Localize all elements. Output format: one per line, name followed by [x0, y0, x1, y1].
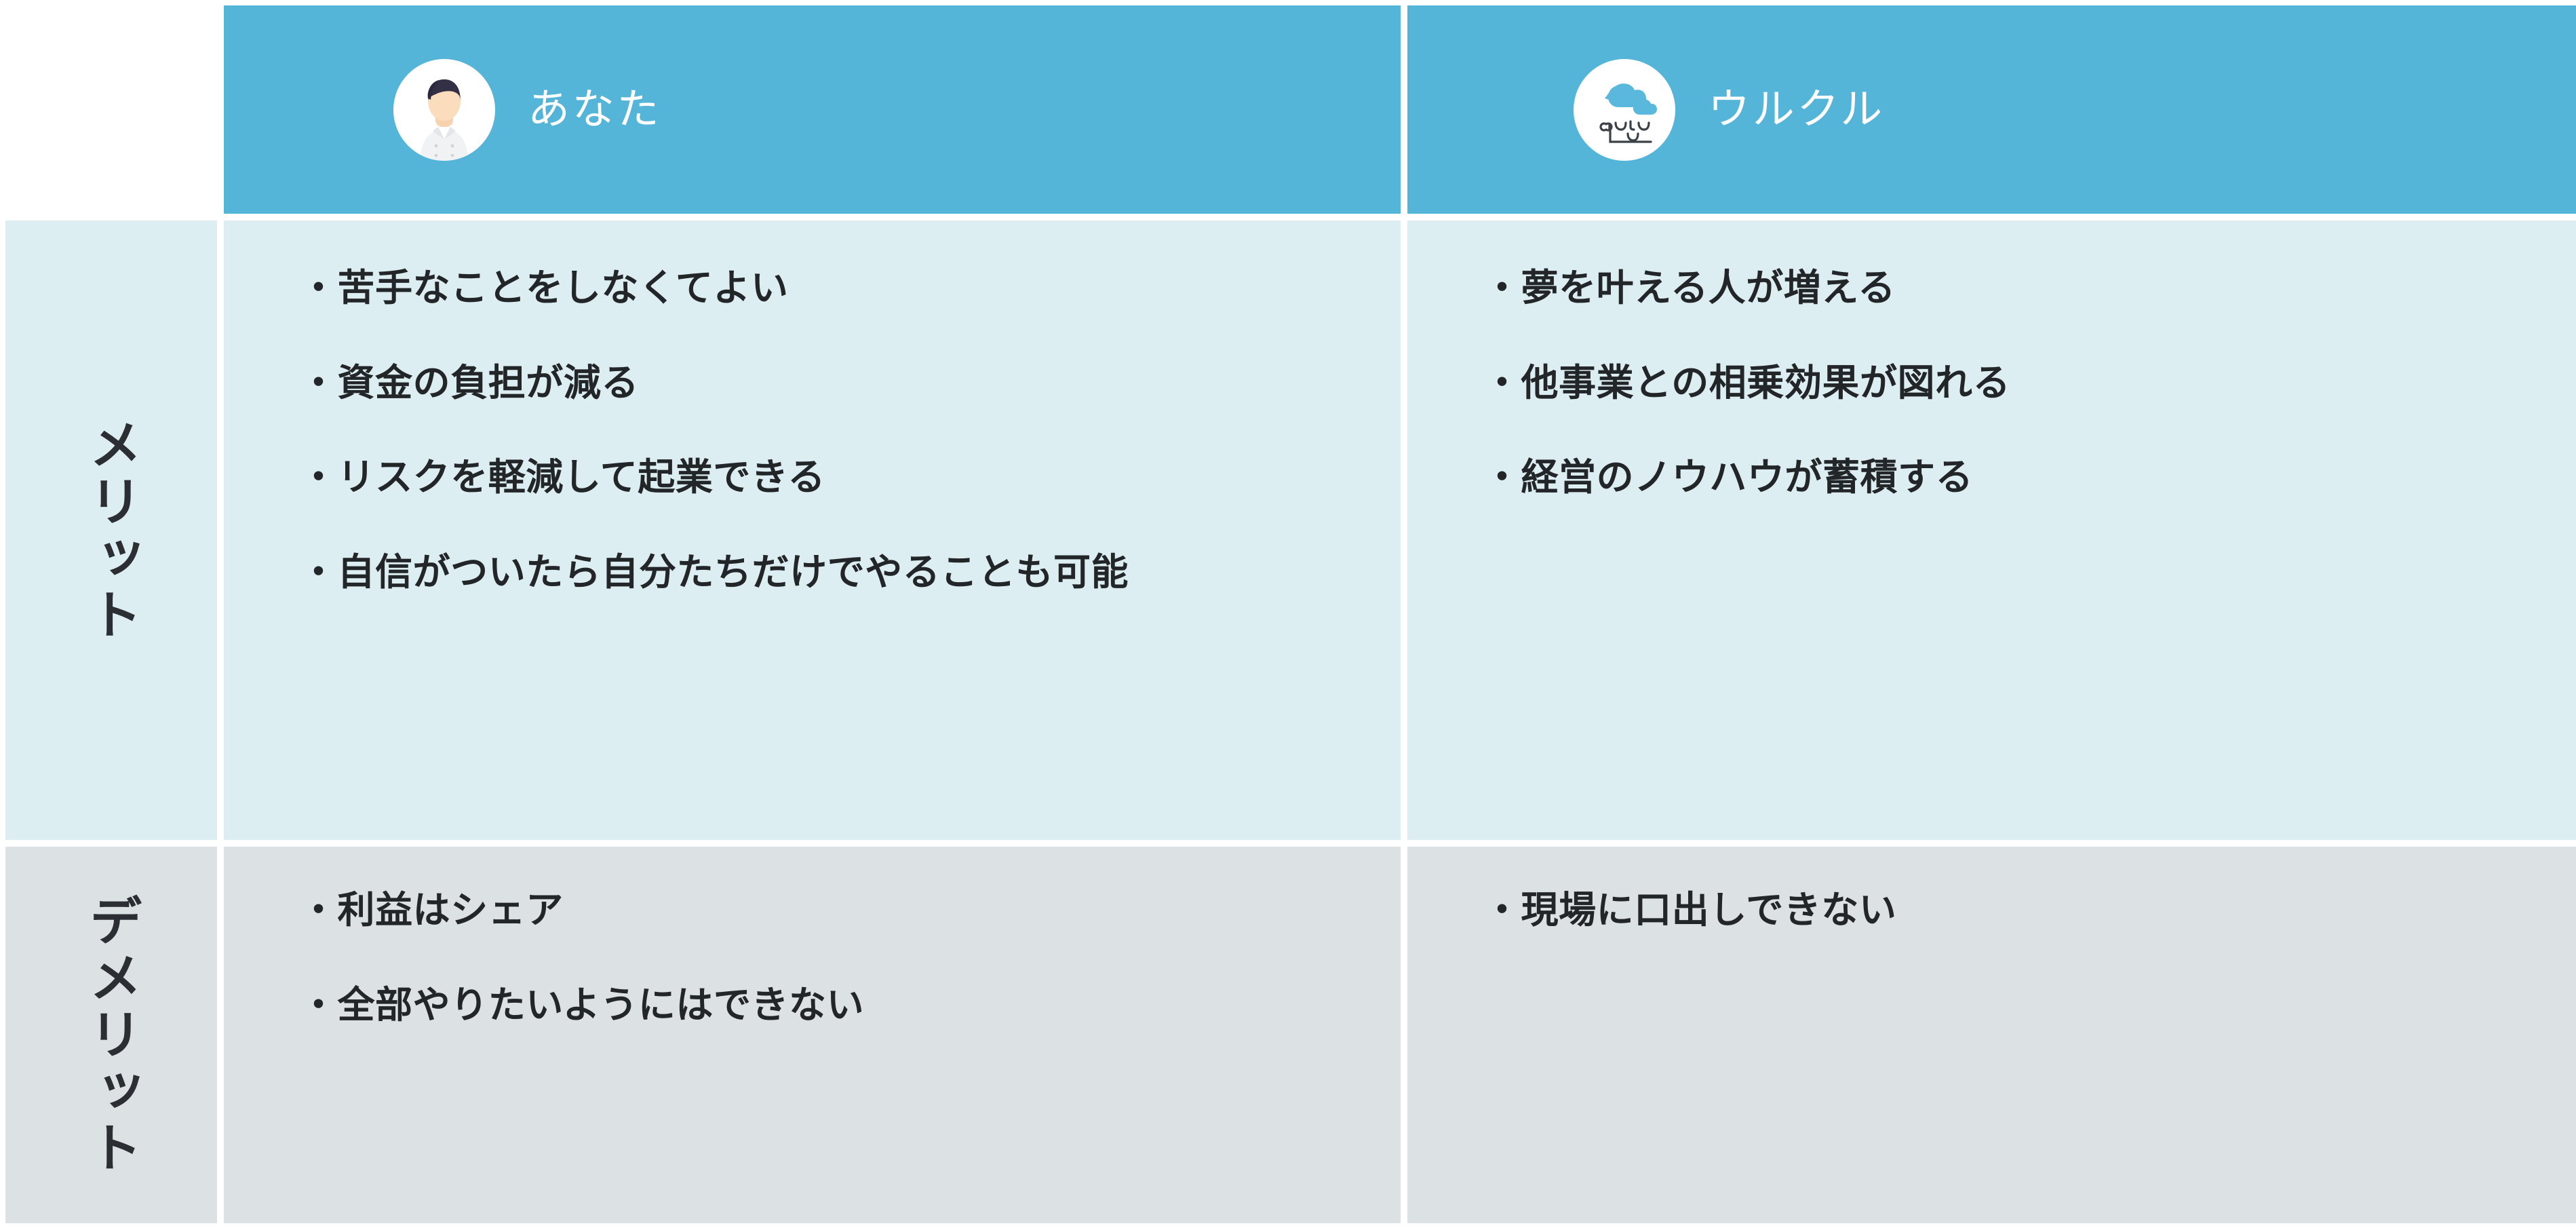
cell-merit-you: ・苦手なことをしなくてよい ・資金の負担が減る ・リスクを軽減して起業できる ・… — [224, 220, 1401, 840]
column-header-label: ウルクル — [1708, 89, 1885, 131]
list-item: ・現場に口出しできない — [1483, 882, 2552, 939]
list-item: ・自信がついたら自分たちだけでやることも可能 — [300, 544, 1373, 601]
column-header-you: あなた — [224, 5, 1401, 214]
list-item: ・夢を叶える人が増える — [1483, 260, 2552, 317]
list-item: ・経営のノウハウが蓄積する — [1483, 449, 2552, 506]
list-item: ・他事業との相乗効果が図れる — [1483, 355, 2552, 412]
chef-avatar-icon — [393, 59, 495, 161]
cell-demerit-urukuru: ・現場に口出しできない — [1407, 847, 2576, 1223]
table-corner-cell — [5, 5, 217, 214]
row-label-merit: メリット — [5, 220, 217, 840]
bullet-list: ・利益はシェア ・全部やりたいようにはできない — [300, 882, 1373, 1033]
row-label-demerit: デメリット — [5, 847, 217, 1223]
cell-demerit-you: ・利益はシェア ・全部やりたいようにはできない — [224, 847, 1401, 1223]
list-item: ・全部やりたいようにはできない — [300, 977, 1373, 1034]
list-item: ・リスクを軽減して起業できる — [300, 449, 1373, 506]
column-header-label: あなた — [528, 89, 661, 131]
list-item: ・資金の負担が減る — [300, 355, 1373, 412]
cell-merit-urukuru: ・夢を叶える人が増える ・他事業との相乗効果が図れる ・経営のノウハウが蓄積する — [1407, 220, 2576, 840]
urukuru-logo-icon — [1574, 59, 1675, 161]
list-item: ・苦手なことをしなくてよい — [300, 260, 1373, 317]
bullet-list: ・現場に口出しできない — [1483, 882, 2552, 939]
list-item: ・利益はシェア — [300, 882, 1373, 939]
row-label-text: デメリット — [84, 894, 138, 1176]
bullet-list: ・夢を叶える人が増える ・他事業との相乗効果が図れる ・経営のノウハウが蓄積する — [1483, 260, 2552, 506]
bullet-list: ・苦手なことをしなくてよい ・資金の負担が減る ・リスクを軽減して起業できる ・… — [300, 260, 1373, 600]
row-label-text: メリット — [84, 417, 138, 644]
comparison-table: あなた — [5, 5, 2571, 1218]
column-header-urukuru: ウルクル — [1407, 5, 2576, 214]
